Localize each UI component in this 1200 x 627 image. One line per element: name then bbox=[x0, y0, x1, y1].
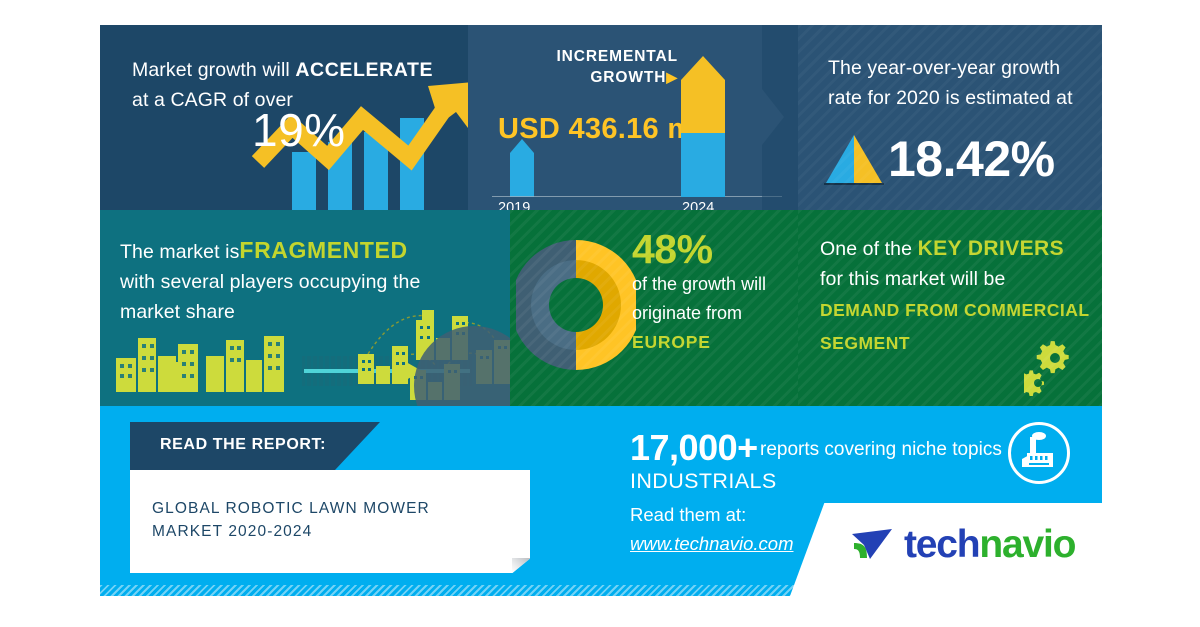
report-title-line1: GLOBAL ROBOTIC LAWN MOWER bbox=[152, 500, 430, 517]
infographic-canvas: Market growth will ACCELERATE at a CAGR … bbox=[0, 0, 1200, 627]
panel-key-drivers: One of the KEY DRIVERS for this market w… bbox=[798, 210, 1102, 406]
read-them-at-label: Read them at: bbox=[630, 504, 746, 526]
logo-part2: navio bbox=[979, 523, 1075, 566]
panel-footer: READ THE REPORT: GLOBAL ROBOTIC LAWN MOW… bbox=[100, 406, 1102, 596]
panel-cagr: Market growth will ACCELERATE at a CAGR … bbox=[100, 25, 468, 210]
drivers-line1-plain: One of the bbox=[820, 238, 918, 260]
chevron-notch bbox=[762, 25, 798, 210]
report-title: GLOBAL ROBOTIC LAWN MOWER MARKET 2020-20… bbox=[152, 497, 512, 543]
incremental-year-2019: 2019 bbox=[498, 200, 530, 210]
panel-europe-share: 48% of the growth will originate from EU… bbox=[510, 210, 798, 406]
incremental-label-line2: GROWTH bbox=[590, 69, 666, 86]
yoy-value: 18.42% bbox=[888, 130, 1055, 188]
logo-part1: tech bbox=[904, 523, 979, 566]
europe-line2: originate from bbox=[632, 303, 742, 323]
fragmented-line1-bold: FRAGMENTED bbox=[239, 237, 407, 263]
read-the-report-tab: READ THE REPORT: bbox=[130, 422, 380, 470]
drivers-line1-bold: KEY DRIVERS bbox=[918, 237, 1064, 260]
panel-fragmented-market: The market isFRAGMENTED with several pla… bbox=[100, 210, 510, 406]
technavio-url[interactable]: www.technavio.com bbox=[630, 533, 793, 555]
europe-line1: of the growth will bbox=[632, 274, 766, 294]
drivers-line2: for this market will be bbox=[820, 268, 1005, 290]
incremental-bar-chart bbox=[492, 135, 782, 197]
incremental-label-line1: INCREMENTAL bbox=[556, 48, 678, 65]
reports-count: 17,000+ bbox=[630, 427, 758, 469]
footer-texture-strip bbox=[100, 585, 1102, 596]
yoy-line1: The year-over-year growth bbox=[828, 57, 1060, 79]
cagr-line1-plain: Market growth will bbox=[132, 59, 295, 81]
incremental-bar-2024 bbox=[673, 54, 733, 197]
gears-icon bbox=[1024, 338, 1088, 396]
europe-text: of the growth will originate from EUROPE bbox=[632, 270, 798, 357]
cagr-line1-bold: ACCELERATE bbox=[295, 59, 433, 81]
fragmented-line1-plain: The market is bbox=[120, 241, 239, 263]
cagr-value: 19% bbox=[252, 103, 346, 157]
driver-line2: SEGMENT bbox=[820, 333, 910, 353]
yoy-line2: rate for 2020 is estimated at bbox=[828, 87, 1073, 109]
report-title-line2: MARKET 2020-2024 bbox=[152, 523, 312, 540]
incremental-year-2024: 2024 bbox=[682, 200, 714, 210]
driver-line1: DEMAND FROM COMMERCIAL bbox=[820, 300, 1090, 320]
panel-incremental-growth: INCREMENTAL GROWTH▶ USD 436.16 mn 2019 2… bbox=[468, 25, 798, 210]
europe-region: EUROPE bbox=[632, 332, 711, 352]
incremental-growth-label: INCREMENTAL GROWTH▶ bbox=[498, 46, 678, 88]
europe-percent: 48% bbox=[632, 226, 713, 273]
report-title-card[interactable]: GLOBAL ROBOTIC LAWN MOWER MARKET 2020-20… bbox=[130, 470, 530, 573]
read-the-report-label: READ THE REPORT: bbox=[160, 436, 326, 454]
page-fold-corner bbox=[512, 558, 530, 573]
factory-badge bbox=[1008, 422, 1070, 484]
factory-icon bbox=[1011, 425, 1067, 481]
fragmented-line2: with several players occupying the bbox=[120, 271, 420, 293]
technavio-wordmark: technavio bbox=[904, 523, 1075, 567]
reports-count-suffix: reports covering niche topics bbox=[760, 439, 1002, 461]
europe-donut-chart bbox=[516, 232, 636, 378]
yoy-text: The year-over-year growth rate for 2020 … bbox=[828, 53, 1088, 113]
reports-category: INDUSTRIALS bbox=[630, 469, 777, 494]
growth-triangle-icon bbox=[824, 133, 884, 185]
technavio-logo-plate: technavio bbox=[790, 503, 1102, 596]
technavio-logo[interactable]: technavio bbox=[850, 523, 1075, 567]
panel-yoy-growth: The year-over-year growth rate for 2020 … bbox=[798, 25, 1102, 210]
technavio-arrow-icon bbox=[850, 525, 896, 565]
